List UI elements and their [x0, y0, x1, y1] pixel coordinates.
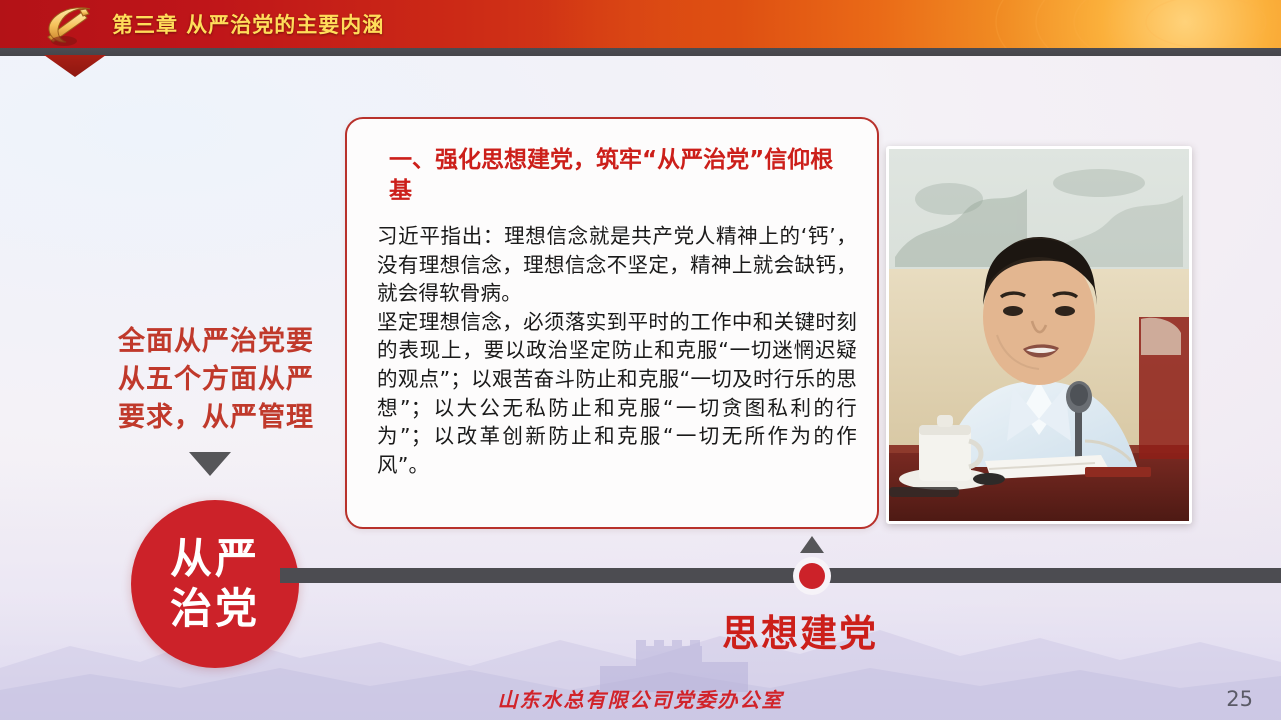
left-summary-line-2: 从五个方面从严	[96, 361, 336, 399]
triangle-up-icon	[800, 536, 824, 553]
header-ring-decoration	[861, 0, 1281, 48]
card-heading: 一、强化思想建党，筑牢“从严治党”信仰根基	[389, 145, 849, 207]
slide-root: 第三章 从严治党的主要内涵 全面从严治党要 从五个方面从严 要求，从严管理 从严…	[0, 0, 1281, 720]
leader-speaking-photo-icon	[889, 149, 1189, 521]
left-summary-line-3: 要求，从严管理	[96, 399, 336, 437]
card-paragraph-2: 坚定理想信念，必须落实到平时的工作中和关键时刻的表现上，要以政治坚定防止和克服“…	[377, 308, 857, 480]
content-card: 一、强化思想建党，筑牢“从严治党”信仰根基 习近平指出：理想信念就是共产党人精神…	[345, 117, 879, 529]
circle-label-line-2: 治党	[170, 584, 260, 634]
card-body: 习近平指出：理想信念就是共产党人精神上的‘钙’，没有理想信念，理想信念不坚定，精…	[377, 222, 857, 479]
timeline-dot-marker[interactable]	[799, 563, 825, 589]
left-summary-line-1: 全面从严治党要	[96, 323, 336, 361]
header-title: 第三章 从严治党的主要内涵	[112, 9, 384, 39]
circle-label-line-1: 从严	[170, 534, 260, 584]
triangle-down-icon	[189, 452, 231, 476]
timeline-bar	[280, 568, 1281, 583]
topic-circle-badge: 从严 治党	[131, 500, 299, 668]
footer-organization: 山东水总有限公司党委办公室	[0, 684, 1281, 713]
leader-photo	[886, 146, 1192, 524]
page-number: 25	[1226, 687, 1253, 711]
timeline-label: 思想建党	[722, 603, 878, 657]
slide-header-bar: 第三章 从严治党的主要内涵	[0, 0, 1281, 48]
left-summary-text: 全面从严治党要 从五个方面从严 要求，从严管理	[96, 323, 336, 437]
party-emblem-icon	[36, 3, 102, 47]
card-paragraph-1: 习近平指出：理想信念就是共产党人精神上的‘钙’，没有理想信念，理想信念不坚定，精…	[377, 222, 857, 308]
header-underline-bar	[0, 48, 1281, 56]
